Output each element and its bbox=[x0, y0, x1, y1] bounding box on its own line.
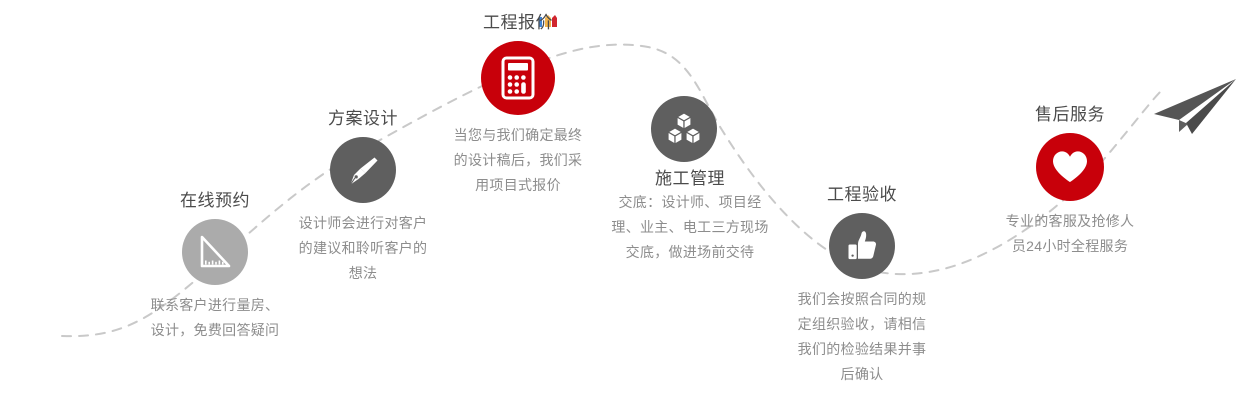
step-description: 专业的客服及抢修人员24小时全程服务 bbox=[1000, 209, 1140, 259]
step-description: 交底：设计师、项目经理、业主、电工三方现场交底，做进场前交待 bbox=[609, 190, 771, 265]
thumbs-up-icon bbox=[829, 213, 895, 279]
step-description: 设计师会进行对客户的建议和聆听客户的想法 bbox=[293, 211, 433, 286]
triangle-ruler-icon bbox=[182, 219, 248, 285]
calculator-icon bbox=[481, 41, 555, 115]
step-description: 联系客户进行量房、设计，免费回答疑问 bbox=[145, 293, 285, 343]
step-title: 工程报价 bbox=[413, 12, 623, 34]
boxes-icon bbox=[651, 96, 717, 162]
fountain-pen-icon bbox=[330, 137, 396, 203]
step-description: 我们会按照合同的规定组织验收，请相信我们的检验结果并事后确认 bbox=[792, 287, 932, 387]
step-after-sales-service[interactable]: 售后服务 专业的客服及抢修人员24小时全程服务 bbox=[965, 104, 1175, 259]
heart-icon bbox=[1036, 133, 1104, 201]
step-description: 当您与我们确定最终的设计稿后，我们采用项目式报价 bbox=[448, 123, 588, 198]
step-title: 工程验收 bbox=[757, 184, 967, 206]
step-title: 售后服务 bbox=[965, 104, 1175, 126]
step-project-acceptance[interactable]: 工程验收 我们会按照合同的规定组织验收，请相信我们的检验结果并事后确认 bbox=[757, 184, 967, 387]
process-flow-infographic: 在线预约 联系客户进行量房、设计，免费回答疑问 方案设计 bbox=[0, 0, 1245, 402]
